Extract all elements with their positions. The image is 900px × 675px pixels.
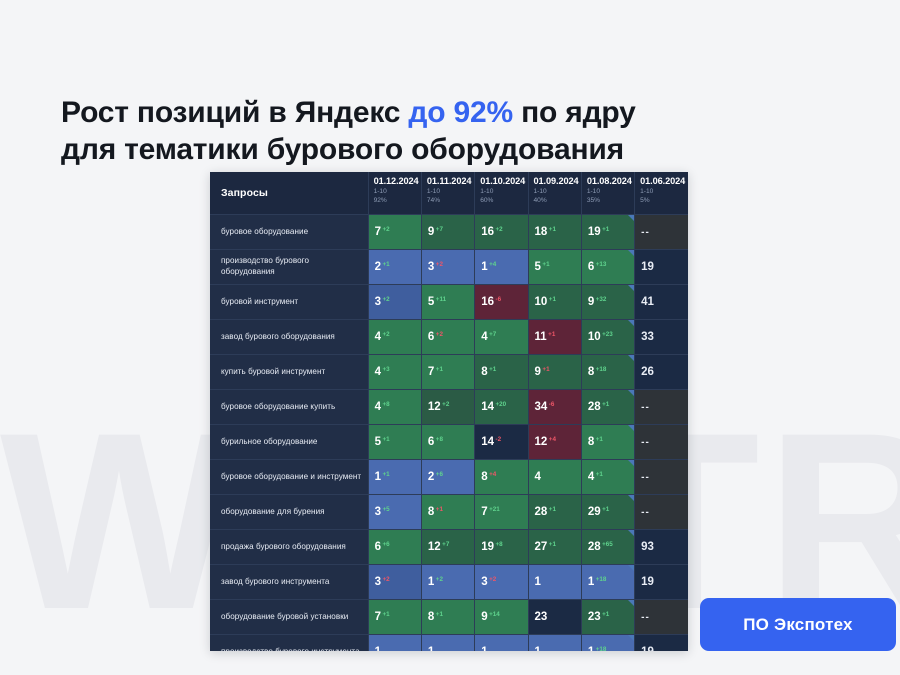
position-value: 33	[641, 331, 654, 343]
position-cell: 6+6	[368, 530, 421, 565]
position-delta: +7	[436, 226, 443, 233]
title-part-after: по ядру	[513, 96, 636, 129]
column-header-date-1: 01.12.20241-1092%	[368, 172, 421, 215]
page-title: Рост позиций в Яндекс до 92% по ядрудля …	[61, 95, 821, 168]
position-value: 1	[535, 646, 541, 651]
column-range-pct: 1-1092%	[374, 188, 421, 206]
column-range-pct: 1-1035%	[587, 188, 634, 206]
position-delta: +14	[489, 611, 500, 618]
position-value: 4	[375, 331, 381, 343]
position-value: 3	[375, 296, 381, 308]
position-cell: 7+1	[421, 355, 474, 390]
position-cell: 9+14	[475, 600, 528, 635]
position-delta: +1	[596, 436, 603, 443]
position-delta: +2	[436, 261, 443, 268]
position-cell: 1+2	[421, 565, 474, 600]
position-cell: 2+1	[368, 250, 421, 285]
query-label: продажа бурового оборудования	[210, 530, 368, 565]
position-delta: +1	[542, 261, 549, 268]
position-cell: 28+1	[528, 495, 581, 530]
table-row: продажа бурового оборудования6+612+719+8…	[210, 530, 688, 565]
position-delta: +18	[596, 576, 607, 583]
position-value: 7	[375, 226, 381, 238]
position-value: 3	[428, 261, 434, 273]
title-highlight: до 92%	[408, 96, 513, 129]
position-delta: +1	[548, 331, 555, 338]
position-cell: 6+8	[421, 425, 474, 460]
position-delta: +1	[382, 471, 389, 478]
position-cell: 26	[635, 355, 688, 390]
position-delta: +2	[436, 331, 443, 338]
column-range-pct: 1-105%	[640, 188, 688, 206]
position-cell: 1+1	[368, 460, 421, 495]
position-cell: 10+1	[528, 285, 581, 320]
rankings-table: Запросы 01.12.20241-1092%01.11.20241-107…	[210, 172, 688, 651]
position-value: 29	[588, 506, 601, 518]
position-cell: 14-2	[475, 425, 528, 460]
position-cell: --	[635, 215, 688, 250]
position-cell: 93	[635, 530, 688, 565]
position-delta: +32	[596, 296, 607, 303]
position-value: 4	[375, 401, 381, 413]
position-value: 12	[428, 541, 441, 553]
position-value: 27	[535, 541, 548, 553]
position-cell: --	[635, 600, 688, 635]
position-cell: 1+18	[581, 635, 634, 652]
position-delta: +1	[549, 226, 556, 233]
table-row: производство бурового инструмента11111+1…	[210, 635, 688, 652]
table-row: буровой инструмент3+25+1116-610+19+3241	[210, 285, 688, 320]
position-delta: +1	[549, 296, 556, 303]
column-header-date-6: 01.06.20241-105%	[635, 172, 688, 215]
position-delta: +1	[382, 611, 389, 618]
position-delta: +1	[549, 541, 556, 548]
position-delta: +2	[382, 576, 389, 583]
position-value: 5	[428, 296, 434, 308]
position-cell: 5+1	[368, 425, 421, 460]
position-delta: +6	[382, 541, 389, 548]
position-delta: +1	[596, 471, 603, 478]
position-value: 9	[535, 366, 541, 378]
position-value: 3	[375, 506, 381, 518]
position-cell: 4	[528, 460, 581, 495]
position-value: 6	[375, 541, 381, 553]
position-value: 3	[481, 576, 487, 588]
position-value: 8	[481, 471, 487, 483]
position-value: 19	[481, 541, 494, 553]
position-value: 16	[481, 296, 494, 308]
position-cell: 28+1	[581, 390, 634, 425]
query-label: буровой инструмент	[210, 285, 368, 320]
position-value: 41	[641, 296, 654, 308]
query-label: буровое оборудование купить	[210, 390, 368, 425]
position-value: 28	[588, 401, 601, 413]
position-value: 23	[535, 611, 548, 623]
position-value: 1	[588, 646, 594, 651]
position-value: 8	[588, 436, 594, 448]
position-delta: +1	[549, 506, 556, 513]
position-cell: 5+11	[421, 285, 474, 320]
position-cell: 1	[475, 635, 528, 652]
position-cell: 4+3	[368, 355, 421, 390]
position-cell: 7+2	[368, 215, 421, 250]
position-cell: 14+20	[475, 390, 528, 425]
position-cell: 4+8	[368, 390, 421, 425]
table-row: бурильное оборудование5+16+814-212+48+1-…	[210, 425, 688, 460]
position-cell: 8+4	[475, 460, 528, 495]
position-delta: +2	[489, 576, 496, 583]
position-value: 11	[535, 331, 547, 343]
position-delta: +1	[382, 261, 389, 268]
title-part-before: Рост позиций в Яндекс	[61, 96, 408, 129]
position-value: 2	[428, 471, 434, 483]
position-delta: +1	[382, 436, 389, 443]
position-value: 4	[481, 331, 487, 343]
position-cell: 8+1	[475, 355, 528, 390]
position-cell: 3+2	[368, 565, 421, 600]
position-value: 10	[535, 296, 548, 308]
position-cell: 1	[528, 635, 581, 652]
position-value: 19	[588, 226, 601, 238]
position-value: 1	[481, 261, 487, 273]
position-delta: +18	[596, 366, 607, 373]
position-delta: +13	[596, 261, 607, 268]
position-value: --	[641, 437, 650, 448]
position-cell: 28+65	[581, 530, 634, 565]
position-value: 2	[375, 261, 381, 273]
query-label: бурильное оборудование	[210, 425, 368, 460]
position-delta: +6	[436, 471, 443, 478]
position-value: 28	[535, 506, 548, 518]
position-value: 5	[375, 436, 381, 448]
position-cell: 4+1	[581, 460, 634, 495]
position-cell: 9+7	[421, 215, 474, 250]
position-cell: 33	[635, 320, 688, 355]
position-cell: 29+1	[581, 495, 634, 530]
table-row: буровое оборудование7+29+716+218+119+1--	[210, 215, 688, 250]
position-value: 23	[588, 611, 601, 623]
column-header-date-2: 01.11.20241-1074%	[421, 172, 474, 215]
position-delta: +8	[382, 401, 389, 408]
position-cell: 7+1	[368, 600, 421, 635]
column-header-date-4: 01.09.20241-1040%	[528, 172, 581, 215]
position-delta: +1	[542, 366, 549, 373]
position-value: 7	[428, 366, 434, 378]
position-cell: --	[635, 495, 688, 530]
query-label: оборудование буровой установки	[210, 600, 368, 635]
position-delta: +65	[602, 541, 613, 548]
position-value: 5	[535, 261, 541, 273]
position-cell: 18+1	[528, 215, 581, 250]
position-delta: +8	[495, 541, 502, 548]
position-delta: -6	[549, 401, 555, 408]
column-header-date-3: 01.10.20241-1060%	[475, 172, 528, 215]
position-value: 16	[481, 226, 494, 238]
title-line-two: для тематики бурового оборудования	[61, 133, 624, 166]
position-delta: +20	[495, 401, 506, 408]
position-value: --	[641, 472, 650, 483]
position-cell: 12+4	[528, 425, 581, 460]
position-cell: 34-6	[528, 390, 581, 425]
table-row: завод бурового инструмента3+21+23+211+18…	[210, 565, 688, 600]
position-cell: 6+13	[581, 250, 634, 285]
position-delta: +2	[495, 226, 502, 233]
position-delta: +1	[436, 506, 443, 513]
position-delta: +3	[382, 366, 389, 373]
position-cell: 1	[421, 635, 474, 652]
position-delta: +1	[489, 366, 496, 373]
position-cell: 19	[635, 250, 688, 285]
position-delta: +4	[489, 471, 496, 478]
position-cell: 16-6	[475, 285, 528, 320]
position-cell: 41	[635, 285, 688, 320]
query-label: завод бурового инструмента	[210, 565, 368, 600]
position-value: --	[641, 612, 650, 623]
position-cell: 8+18	[581, 355, 634, 390]
position-delta: +2	[442, 401, 449, 408]
position-delta: +4	[549, 436, 556, 443]
position-value: 6	[428, 436, 434, 448]
column-range-pct: 1-1040%	[534, 188, 581, 206]
position-cell: 7+21	[475, 495, 528, 530]
position-value: 1	[375, 471, 381, 483]
position-value: 7	[375, 611, 381, 623]
position-delta: +1	[602, 611, 609, 618]
table-head: Запросы 01.12.20241-1092%01.11.20241-107…	[210, 172, 688, 215]
column-range-pct: 1-1060%	[480, 188, 527, 206]
position-value: 19	[641, 646, 654, 651]
position-value: 8	[428, 506, 434, 518]
position-cell: 6+2	[421, 320, 474, 355]
position-delta: +1	[602, 401, 609, 408]
position-value: 8	[588, 366, 594, 378]
position-value: 3	[375, 576, 381, 588]
position-value: 1	[588, 576, 594, 588]
position-delta: +23	[602, 331, 613, 338]
table-row: оборудование для бурения3+58+17+2128+129…	[210, 495, 688, 530]
position-value: 4	[375, 366, 381, 378]
position-cell: 3+5	[368, 495, 421, 530]
position-value: 6	[428, 331, 434, 343]
position-cell: 12+2	[421, 390, 474, 425]
position-cell: 4+7	[475, 320, 528, 355]
position-value: 8	[428, 611, 434, 623]
position-value: 6	[588, 261, 594, 273]
table-row: буровое оборудование и инструмент1+12+68…	[210, 460, 688, 495]
position-cell: 10+23	[581, 320, 634, 355]
position-cell: 19+1	[581, 215, 634, 250]
position-value: 14	[481, 401, 494, 413]
position-value: 1	[375, 646, 381, 651]
position-cell: --	[635, 460, 688, 495]
query-label: буровое оборудование	[210, 215, 368, 250]
position-value: 4	[588, 471, 594, 483]
query-label: производство бурового оборудования	[210, 250, 368, 285]
position-cell: --	[635, 390, 688, 425]
position-value: 9	[428, 226, 434, 238]
position-cell: 9+1	[528, 355, 581, 390]
position-value: 1	[428, 646, 434, 651]
position-delta: +8	[436, 436, 443, 443]
position-value: 12	[535, 436, 548, 448]
position-cell: 8+1	[421, 495, 474, 530]
table-body: буровое оборудование7+29+716+218+119+1--…	[210, 215, 688, 652]
column-date: 01.11.2024	[427, 176, 474, 186]
position-delta: +2	[382, 296, 389, 303]
position-cell: --	[635, 425, 688, 460]
position-value: 26	[641, 366, 654, 378]
position-cell: 2+6	[421, 460, 474, 495]
position-cell: 27+1	[528, 530, 581, 565]
position-cell: 1+18	[581, 565, 634, 600]
column-range-pct: 1-1074%	[427, 188, 474, 206]
position-value: 7	[481, 506, 487, 518]
position-cell: 3+2	[475, 565, 528, 600]
position-cell: 23+1	[581, 600, 634, 635]
position-cell: 5+1	[528, 250, 581, 285]
position-value: 1	[535, 576, 541, 588]
position-delta: +2	[436, 576, 443, 583]
position-value: --	[641, 402, 650, 413]
position-value: 10	[588, 331, 601, 343]
position-cell: 8+1	[581, 425, 634, 460]
table-row: производство бурового оборудования2+13+2…	[210, 250, 688, 285]
column-date: 01.10.2024	[480, 176, 527, 186]
position-cell: 9+32	[581, 285, 634, 320]
position-value: 14	[481, 436, 494, 448]
position-value: 28	[588, 541, 601, 553]
position-delta: +1	[602, 506, 609, 513]
column-date: 01.06.2024	[640, 176, 688, 186]
position-cell: 1+4	[475, 250, 528, 285]
position-delta: +21	[489, 506, 500, 513]
position-value: --	[641, 227, 650, 238]
position-cell: 12+7	[421, 530, 474, 565]
cta-button[interactable]: ПО Экспотех	[700, 598, 896, 651]
position-cell: 19	[635, 565, 688, 600]
column-header-date-5: 01.08.20241-1035%	[581, 172, 634, 215]
table-row: оборудование буровой установки7+18+19+14…	[210, 600, 688, 635]
position-delta: +18	[596, 646, 607, 651]
position-value: 1	[428, 576, 434, 588]
column-date: 01.12.2024	[374, 176, 421, 186]
position-value: 4	[535, 471, 541, 483]
position-cell: 1	[528, 565, 581, 600]
position-delta: +1	[602, 226, 609, 233]
query-label: буровое оборудование и инструмент	[210, 460, 368, 495]
position-value: --	[641, 507, 650, 518]
position-delta: +7	[442, 541, 449, 548]
position-cell: 4+2	[368, 320, 421, 355]
position-value: 9	[588, 296, 594, 308]
position-delta: +2	[382, 331, 389, 338]
position-cell: 16+2	[475, 215, 528, 250]
query-label: купить буровой инструмент	[210, 355, 368, 390]
position-value: 34	[535, 401, 548, 413]
position-cell: 19+8	[475, 530, 528, 565]
position-delta: +1	[436, 611, 443, 618]
position-delta: +5	[382, 506, 389, 513]
position-delta: -6	[495, 296, 501, 303]
position-value: 19	[641, 576, 654, 588]
position-delta: -2	[495, 436, 501, 443]
column-date: 01.09.2024	[534, 176, 581, 186]
query-label: производство бурового инструмента	[210, 635, 368, 652]
position-value: 93	[641, 541, 654, 553]
position-value: 8	[481, 366, 487, 378]
position-value: 12	[428, 401, 441, 413]
position-cell: 3+2	[368, 285, 421, 320]
rankings-table-panel: Запросы 01.12.20241-1092%01.11.20241-107…	[210, 172, 688, 651]
position-delta: +11	[436, 296, 446, 303]
position-value: 19	[641, 261, 654, 273]
position-value: 9	[481, 611, 487, 623]
position-delta: +1	[436, 366, 443, 373]
table-header-row: Запросы 01.12.20241-1092%01.11.20241-107…	[210, 172, 688, 215]
table-row: буровое оборудование купить4+812+214+203…	[210, 390, 688, 425]
position-delta: +2	[382, 226, 389, 233]
query-label: оборудование для бурения	[210, 495, 368, 530]
position-cell: 3+2	[421, 250, 474, 285]
position-delta: +7	[489, 331, 496, 338]
column-header-queries: Запросы	[210, 172, 368, 215]
table-row: купить буровой инструмент4+37+18+19+18+1…	[210, 355, 688, 390]
position-cell: 23	[528, 600, 581, 635]
position-value: 18	[535, 226, 548, 238]
position-value: 1	[481, 646, 487, 651]
position-cell: 19	[635, 635, 688, 652]
table-row: завод бурового оборудования4+26+24+711+1…	[210, 320, 688, 355]
position-cell: 11+1	[528, 320, 581, 355]
column-date: 01.08.2024	[587, 176, 634, 186]
position-delta: +4	[489, 261, 496, 268]
query-label: завод бурового оборудования	[210, 320, 368, 355]
position-cell: 1	[368, 635, 421, 652]
position-cell: 8+1	[421, 600, 474, 635]
